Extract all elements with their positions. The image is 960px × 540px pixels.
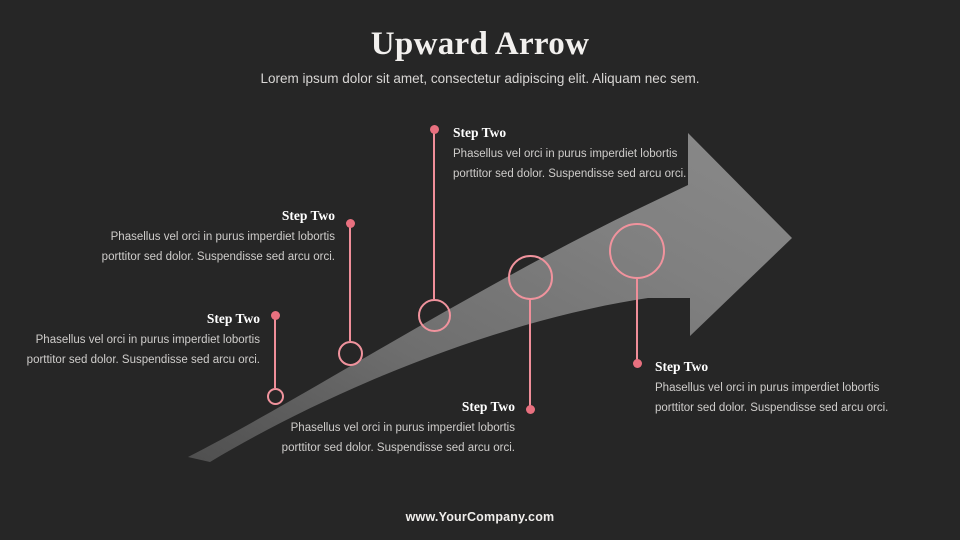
- connector-line-4: [529, 300, 531, 409]
- connector-dot-5: [633, 359, 642, 368]
- connector-dot-4: [526, 405, 535, 414]
- step-body: Phasellus vel orci in purus imperdiet lo…: [275, 419, 515, 458]
- step-body: Phasellus vel orci in purus imperdiet lo…: [95, 228, 335, 267]
- arrow-marker-ring-3[interactable]: [418, 299, 451, 332]
- connector-dot-2: [346, 219, 355, 228]
- connector-dot-3: [430, 125, 439, 134]
- step-title: Step Two: [655, 358, 905, 376]
- connector-line-2: [349, 223, 351, 341]
- footer-url[interactable]: www.YourCompany.com: [0, 510, 960, 524]
- step-body: Phasellus vel orci in purus imperdiet lo…: [655, 379, 905, 418]
- slide-canvas: Upward Arrow Lorem ipsum dolor sit amet,…: [0, 0, 960, 540]
- arrow-marker-ring-4[interactable]: [508, 255, 553, 300]
- step-block-4[interactable]: Step Two Phasellus vel orci in purus imp…: [275, 398, 515, 458]
- connector-line-1: [274, 315, 276, 388]
- arrow-marker-ring-5[interactable]: [609, 223, 665, 279]
- step-title: Step Two: [20, 310, 260, 328]
- step-block-5[interactable]: Step Two Phasellus vel orci in purus imp…: [655, 358, 905, 418]
- step-block-3[interactable]: Step Two Phasellus vel orci in purus imp…: [453, 124, 703, 184]
- step-body: Phasellus vel orci in purus imperdiet lo…: [453, 145, 703, 184]
- step-title: Step Two: [95, 207, 335, 225]
- connector-line-5: [636, 279, 638, 363]
- arrow-marker-ring-2[interactable]: [338, 341, 363, 366]
- upward-arrow-graphic: [0, 0, 960, 540]
- step-block-2[interactable]: Step Two Phasellus vel orci in purus imp…: [95, 207, 335, 267]
- step-title: Step Two: [275, 398, 515, 416]
- connector-line-3: [433, 129, 435, 299]
- step-title: Step Two: [453, 124, 703, 142]
- step-block-1[interactable]: Step Two Phasellus vel orci in purus imp…: [20, 310, 260, 370]
- connector-dot-1: [271, 311, 280, 320]
- step-body: Phasellus vel orci in purus imperdiet lo…: [20, 331, 260, 370]
